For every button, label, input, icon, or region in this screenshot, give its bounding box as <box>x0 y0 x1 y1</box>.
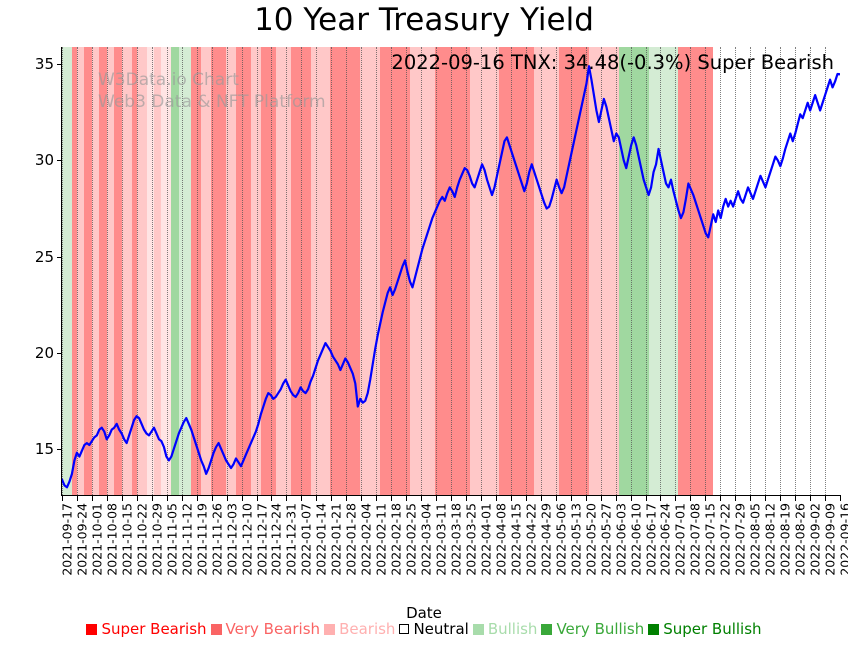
legend-swatch-icon <box>86 624 97 635</box>
x-tick-mark <box>391 496 392 501</box>
x-tick-label: 2021-10-08 <box>104 503 119 576</box>
x-tick-mark <box>346 496 347 501</box>
x-tick-label: 2022-06-24 <box>658 503 673 576</box>
x-tick-mark <box>286 496 287 501</box>
x-tick-label: 2021-10-15 <box>119 503 134 576</box>
x-tick-mark <box>197 496 198 501</box>
x-tick-mark <box>481 496 482 501</box>
x-tick-label: 2022-05-06 <box>553 503 568 576</box>
x-tick-mark <box>361 496 362 501</box>
legend-label: Bullish <box>488 620 538 638</box>
x-tick-label: 2022-07-01 <box>673 503 688 576</box>
x-tick-mark <box>212 496 213 501</box>
x-tick-mark <box>690 496 691 501</box>
latest-value-annotation: 2022-09-16 TNX: 34.48(-0.3%) Super Beari… <box>391 51 834 74</box>
x-tick-label: 2022-07-29 <box>733 503 748 576</box>
x-tick-mark <box>331 496 332 501</box>
x-tick-mark <box>810 496 811 501</box>
x-tick-label: 2022-05-20 <box>583 503 598 576</box>
x-tick-mark <box>765 496 766 501</box>
x-tick-label: 2022-01-21 <box>329 503 344 576</box>
x-tick-mark <box>182 496 183 501</box>
x-tick-mark <box>735 496 736 501</box>
x-tick-label: 2022-09-09 <box>823 503 838 576</box>
x-tick-label: 2022-06-03 <box>613 503 628 576</box>
y-tick-mark <box>57 353 62 354</box>
x-tick-label: 2022-02-04 <box>359 503 374 576</box>
x-tick-label: 2021-12-31 <box>284 503 299 576</box>
x-tick-mark <box>271 496 272 501</box>
x-tick-mark <box>62 496 63 501</box>
x-tick-mark <box>152 496 153 501</box>
x-tick-mark <box>526 496 527 501</box>
x-tick-mark <box>227 496 228 501</box>
x-tick-label: 2021-12-10 <box>239 503 254 576</box>
x-tick-label: 2022-04-15 <box>508 503 523 576</box>
x-tick-mark <box>631 496 632 501</box>
legend-item[interactable]: Super Bullish <box>648 620 761 638</box>
x-tick-label: 2022-04-29 <box>538 503 553 576</box>
x-tick-mark <box>436 496 437 501</box>
x-tick-mark <box>675 496 676 501</box>
legend-label: Very Bearish <box>226 620 321 638</box>
x-tick-mark <box>421 496 422 501</box>
x-tick-mark <box>107 496 108 501</box>
x-tick-label: 2022-02-11 <box>374 503 389 576</box>
legend-item[interactable]: Bullish <box>473 620 538 638</box>
x-tick-mark <box>795 496 796 501</box>
legend: Super BearishVery BearishBearishNeutralB… <box>0 620 848 638</box>
legend-label: Neutral <box>413 620 468 638</box>
x-tick-mark <box>571 496 572 501</box>
legend-label: Bearish <box>339 620 395 638</box>
x-tick-mark <box>122 496 123 501</box>
x-tick-label: 2022-04-08 <box>493 503 508 576</box>
x-tick-label: 2022-02-18 <box>389 503 404 576</box>
x-tick-mark <box>242 496 243 501</box>
x-tick-mark <box>660 496 661 501</box>
x-tick-mark <box>511 496 512 501</box>
x-tick-mark <box>406 496 407 501</box>
y-tick-mark <box>57 449 62 450</box>
x-tick-mark <box>316 496 317 501</box>
y-axis-title: TNX <box>0 235 2 266</box>
y-tick-label: 25 <box>35 248 54 266</box>
x-tick-label: 2021-11-26 <box>209 503 224 576</box>
legend-item[interactable]: Bearish <box>324 620 395 638</box>
x-tick-label: 2021-10-29 <box>149 503 164 576</box>
x-tick-mark <box>780 496 781 501</box>
x-tick-label: 2022-05-27 <box>598 503 613 576</box>
chart-root: 10 Year Treasury Yield W3Data.io Chart W… <box>0 0 848 646</box>
legend-swatch-icon <box>399 624 409 634</box>
x-tick-label: 2022-07-08 <box>688 503 703 576</box>
legend-swatch-icon <box>541 624 552 635</box>
x-tick-label: 2021-10-22 <box>134 503 149 576</box>
x-tick-label: 2022-01-07 <box>299 503 314 576</box>
x-tick-label: 2022-09-16 <box>838 503 848 576</box>
y-tick-label: 30 <box>35 151 54 169</box>
x-tick-label: 2021-11-05 <box>164 503 179 576</box>
x-tick-mark <box>720 496 721 501</box>
x-tick-label: 2021-09-17 <box>60 503 75 576</box>
x-tick-label: 2022-07-22 <box>718 503 733 576</box>
legend-label: Very Bullish <box>556 620 644 638</box>
legend-label: Super Bearish <box>101 620 206 638</box>
x-tick-mark <box>451 496 452 501</box>
x-tick-label: 2022-03-18 <box>449 503 464 576</box>
x-tick-label: 2022-09-02 <box>808 503 823 576</box>
legend-swatch-icon <box>211 624 222 635</box>
x-tick-mark <box>825 496 826 501</box>
x-tick-label: 2022-02-25 <box>404 503 419 576</box>
x-tick-label: 2022-01-14 <box>314 503 329 576</box>
x-tick-mark <box>92 496 93 501</box>
x-tick-mark <box>376 496 377 501</box>
x-tick-label: 2022-03-25 <box>463 503 478 576</box>
legend-item[interactable]: Super Bearish <box>86 620 206 638</box>
x-tick-mark <box>301 496 302 501</box>
x-tick-label: 2022-04-01 <box>478 503 493 576</box>
series-line-tnx <box>62 47 840 495</box>
x-tick-label: 2021-09-24 <box>74 503 89 576</box>
x-tick-label: 2022-08-26 <box>793 503 808 576</box>
x-tick-mark <box>556 496 557 501</box>
x-tick-label: 2021-12-03 <box>224 503 239 576</box>
x-tick-label: 2022-06-17 <box>643 503 658 576</box>
x-tick-label: 2022-04-22 <box>523 503 538 576</box>
x-tick-label: 2022-07-15 <box>703 503 718 576</box>
x-tick-label: 2022-05-13 <box>568 503 583 576</box>
legend-swatch-icon <box>473 624 484 635</box>
legend-item[interactable]: Very Bearish <box>211 620 321 638</box>
x-tick-mark <box>705 496 706 501</box>
plot-area[interactable]: W3Data.io Chart Web3 Data & NFT Platform… <box>62 47 840 495</box>
y-tick-label: 35 <box>35 55 54 73</box>
x-tick-mark <box>496 496 497 501</box>
x-tick-mark <box>750 496 751 501</box>
x-tick-mark <box>77 496 78 501</box>
x-tick-mark <box>137 496 138 501</box>
y-tick-label: 15 <box>35 440 54 458</box>
legend-label: Super Bullish <box>663 620 761 638</box>
x-tick-mark <box>616 496 617 501</box>
legend-item[interactable]: Very Bullish <box>541 620 644 638</box>
x-tick-label: 2022-03-04 <box>419 503 434 576</box>
x-tick-label: 2022-01-28 <box>344 503 359 576</box>
x-tick-mark <box>601 496 602 501</box>
legend-swatch-icon <box>648 624 659 635</box>
x-tick-label: 2021-11-19 <box>194 503 209 576</box>
x-tick-label: 2022-08-12 <box>763 503 778 576</box>
x-tick-mark <box>466 496 467 501</box>
x-tick-label: 2022-06-10 <box>628 503 643 576</box>
x-tick-label: 2021-12-17 <box>254 503 269 576</box>
x-tick-label: 2021-12-24 <box>269 503 284 576</box>
x-tick-label: 2022-08-19 <box>778 503 793 576</box>
y-tick-mark <box>57 64 62 65</box>
y-tick-mark <box>57 257 62 258</box>
x-tick-mark <box>586 496 587 501</box>
legend-swatch-icon <box>324 624 335 635</box>
x-tick-mark <box>840 496 841 501</box>
x-tick-mark <box>541 496 542 501</box>
x-tick-label: 2022-03-11 <box>434 503 449 576</box>
page-title: 10 Year Treasury Yield <box>0 2 848 38</box>
x-tick-mark <box>257 496 258 501</box>
x-tick-mark <box>646 496 647 501</box>
x-tick-label: 2021-11-12 <box>179 503 194 576</box>
legend-item[interactable]: Neutral <box>399 620 468 638</box>
y-tick-label: 20 <box>35 344 54 362</box>
y-tick-mark <box>57 160 62 161</box>
x-tick-mark <box>167 496 168 501</box>
x-tick-label: 2021-10-01 <box>89 503 104 576</box>
x-tick-label: 2022-08-05 <box>748 503 763 576</box>
